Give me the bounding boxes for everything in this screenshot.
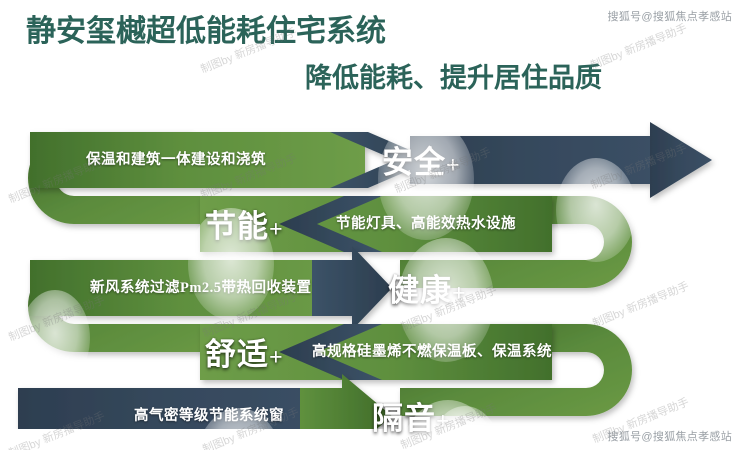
row-5-keyword: 隔音+ (372, 393, 451, 438)
watermark-bottom-right: 搜狐号@搜狐焦点孝感站 (608, 428, 732, 444)
row-1-description: 保温和建筑一体建设和浇筑 (86, 148, 266, 169)
serpentine-process-diagram: 保温和建筑一体建设和浇筑 安全+ 节能+ 节能灯具、高能效热水设施 新风系统过滤… (0, 104, 740, 429)
row-3-keyword-suffix: + (452, 281, 467, 307)
row-1-keyword: 安全+ (382, 137, 461, 182)
row-3-description: 新风系统过滤Pm2.5带热回收装置 (90, 276, 312, 297)
row-2-description: 节能灯具、高能效热水设施 (336, 212, 516, 233)
row-1-keyword-text: 安全 (382, 145, 446, 180)
row-2-keyword: 节能+ (205, 201, 284, 246)
page-title: 静安玺樾超低能耗住宅系统 (26, 6, 386, 50)
watermark-top-right: 搜狐号@搜狐焦点孝感站 (608, 8, 732, 24)
row-5-keyword-suffix: + (436, 409, 451, 435)
row-3-keyword: 健康+ (388, 265, 467, 310)
row-5-description: 高气密等级节能系统窗 (134, 404, 284, 425)
slide-canvas: 静安玺樾超低能耗住宅系统 降低能耗、提升居住品质 搜狐号@搜狐焦点孝感站 搜狐号… (0, 0, 740, 450)
row-4-description: 高规格硅墨烯不燃保温板、保温系统 (312, 340, 552, 361)
row-4-keyword-suffix: + (269, 345, 284, 371)
row-2-keyword-text: 节能 (205, 209, 269, 244)
row-4-keyword: 舒适+ (205, 329, 284, 374)
row-3-keyword-text: 健康 (388, 273, 452, 308)
page-subtitle: 降低能耗、提升居住品质 (305, 56, 602, 95)
row-1-keyword-suffix: + (446, 153, 461, 179)
watermark-tile: 制图by 新房播导助手 (588, 20, 689, 73)
row-2-keyword-suffix: + (269, 217, 284, 243)
row-4-keyword-text: 舒适 (205, 337, 269, 372)
row-5-keyword-text: 隔音 (372, 401, 436, 436)
